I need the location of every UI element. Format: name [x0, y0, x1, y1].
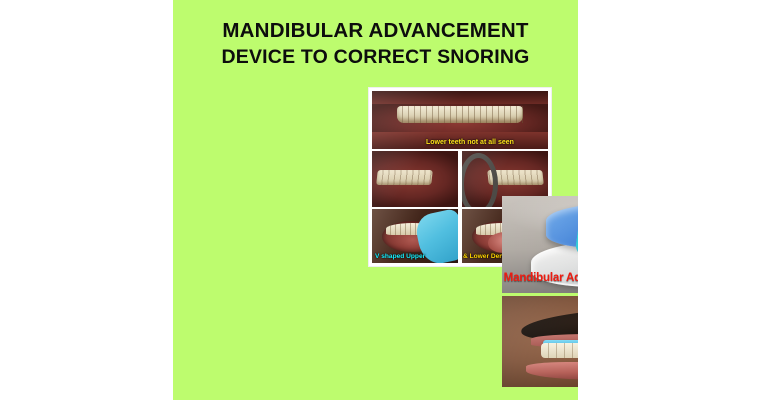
collage-photo-upper-arch: V shaped Upper [372, 209, 458, 263]
page-title: MANDIBULAR ADVANCEMENT DEVICE TO CORRECT… [173, 17, 578, 71]
body-copy-line-1: MANDIBLE PLACED [558, 96, 578, 117]
body-copy-line-2: BACK REDUCES [558, 117, 578, 138]
collage-photo-intraoral-frontal: Lower teeth not at all seen [372, 91, 548, 149]
body-copy-line-4: SPACE [558, 158, 578, 179]
poster-panel: MANDIBULAR ADVANCEMENT DEVICE TO CORRECT… [173, 0, 578, 400]
device-photo-caption: Mandibular Advancement Device for Snorin… [502, 271, 578, 284]
headline-line-1: MANDIBULAR ADVANCEMENT [173, 17, 578, 44]
collage-photo-lateral-right [372, 151, 458, 207]
body-copy: MANDIBLE PLACED BACK REDUCES PHARYNGIAL … [558, 96, 578, 178]
caption-lower-teeth-not-seen: Lower teeth not at all seen [426, 139, 514, 146]
poster-canvas: MANDIBULAR ADVANCEMENT DEVICE TO CORRECT… [0, 0, 770, 400]
caption-v-shaped-upper: V shaped Upper [375, 254, 425, 261]
patient-wearing-device-photo [502, 296, 578, 387]
headline-line-2: DEVICE TO CORRECT SNORING [173, 44, 578, 71]
body-copy-line-3: PHARYNGIAL AIR [558, 137, 578, 158]
